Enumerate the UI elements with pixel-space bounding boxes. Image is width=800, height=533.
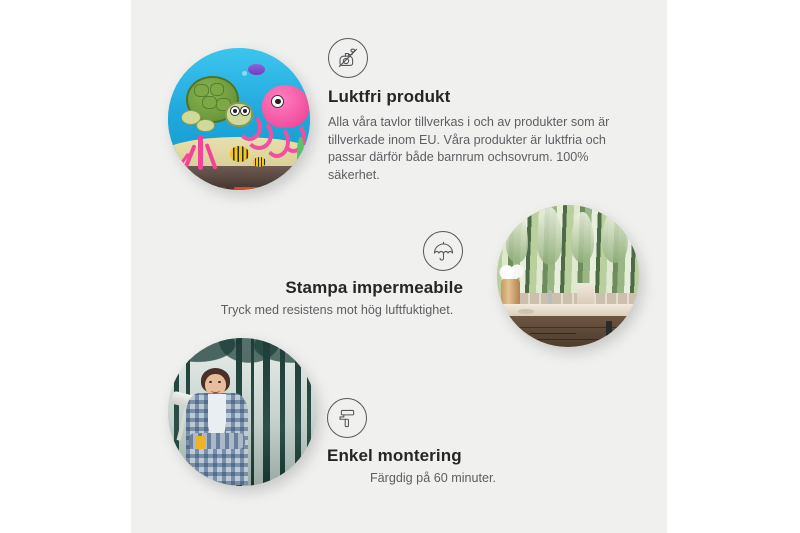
feature-title: Luktfri produkt [328, 87, 634, 107]
seafloor-object [271, 188, 290, 190]
installer-forest-photo [168, 338, 316, 486]
content-panel: Luktfri produkt Alla våra tavlor tillver… [131, 0, 667, 533]
feature-body: Alla våra tavlor tillverkas i och av pro… [328, 114, 634, 184]
wooden-vanity [506, 316, 639, 347]
octopus-icon [262, 85, 309, 128]
feature-body: Tryck med resistens mot hög luftfuktighe… [211, 302, 463, 320]
coral-icon [181, 133, 221, 170]
feature-odourless-product: Luktfri produkt Alla våra tavlor tillver… [328, 38, 634, 184]
forest-canopy [168, 338, 316, 400]
tool-grip [196, 436, 205, 449]
fish-icon [248, 64, 265, 75]
no-fragrance-icon [328, 38, 368, 78]
ocean-mural-photo [168, 48, 310, 190]
feature-title: Enkel montering [327, 446, 539, 466]
seafloor-object [201, 187, 226, 190]
feature-easy-installation: Enkel montering Färgdig på 60 minuter. [327, 398, 539, 488]
bathroom-wallpaper-photo [497, 205, 639, 347]
seaweed-icon [297, 137, 304, 168]
fish-icon [230, 146, 248, 162]
umbrella-icon [423, 231, 463, 271]
feature-waterproof-print: Stampa impermeabile Tryck med resistens … [211, 231, 463, 320]
bubble-icon [242, 71, 247, 76]
screenshot-canvas: Luktfri produkt Alla våra tavlor tillver… [0, 0, 800, 533]
paint-roller-icon [327, 398, 367, 438]
feature-title: Stampa impermeabile [211, 278, 463, 298]
feature-body: Färgdig på 60 minuter. [327, 470, 539, 488]
seafloor-object [234, 187, 266, 189]
